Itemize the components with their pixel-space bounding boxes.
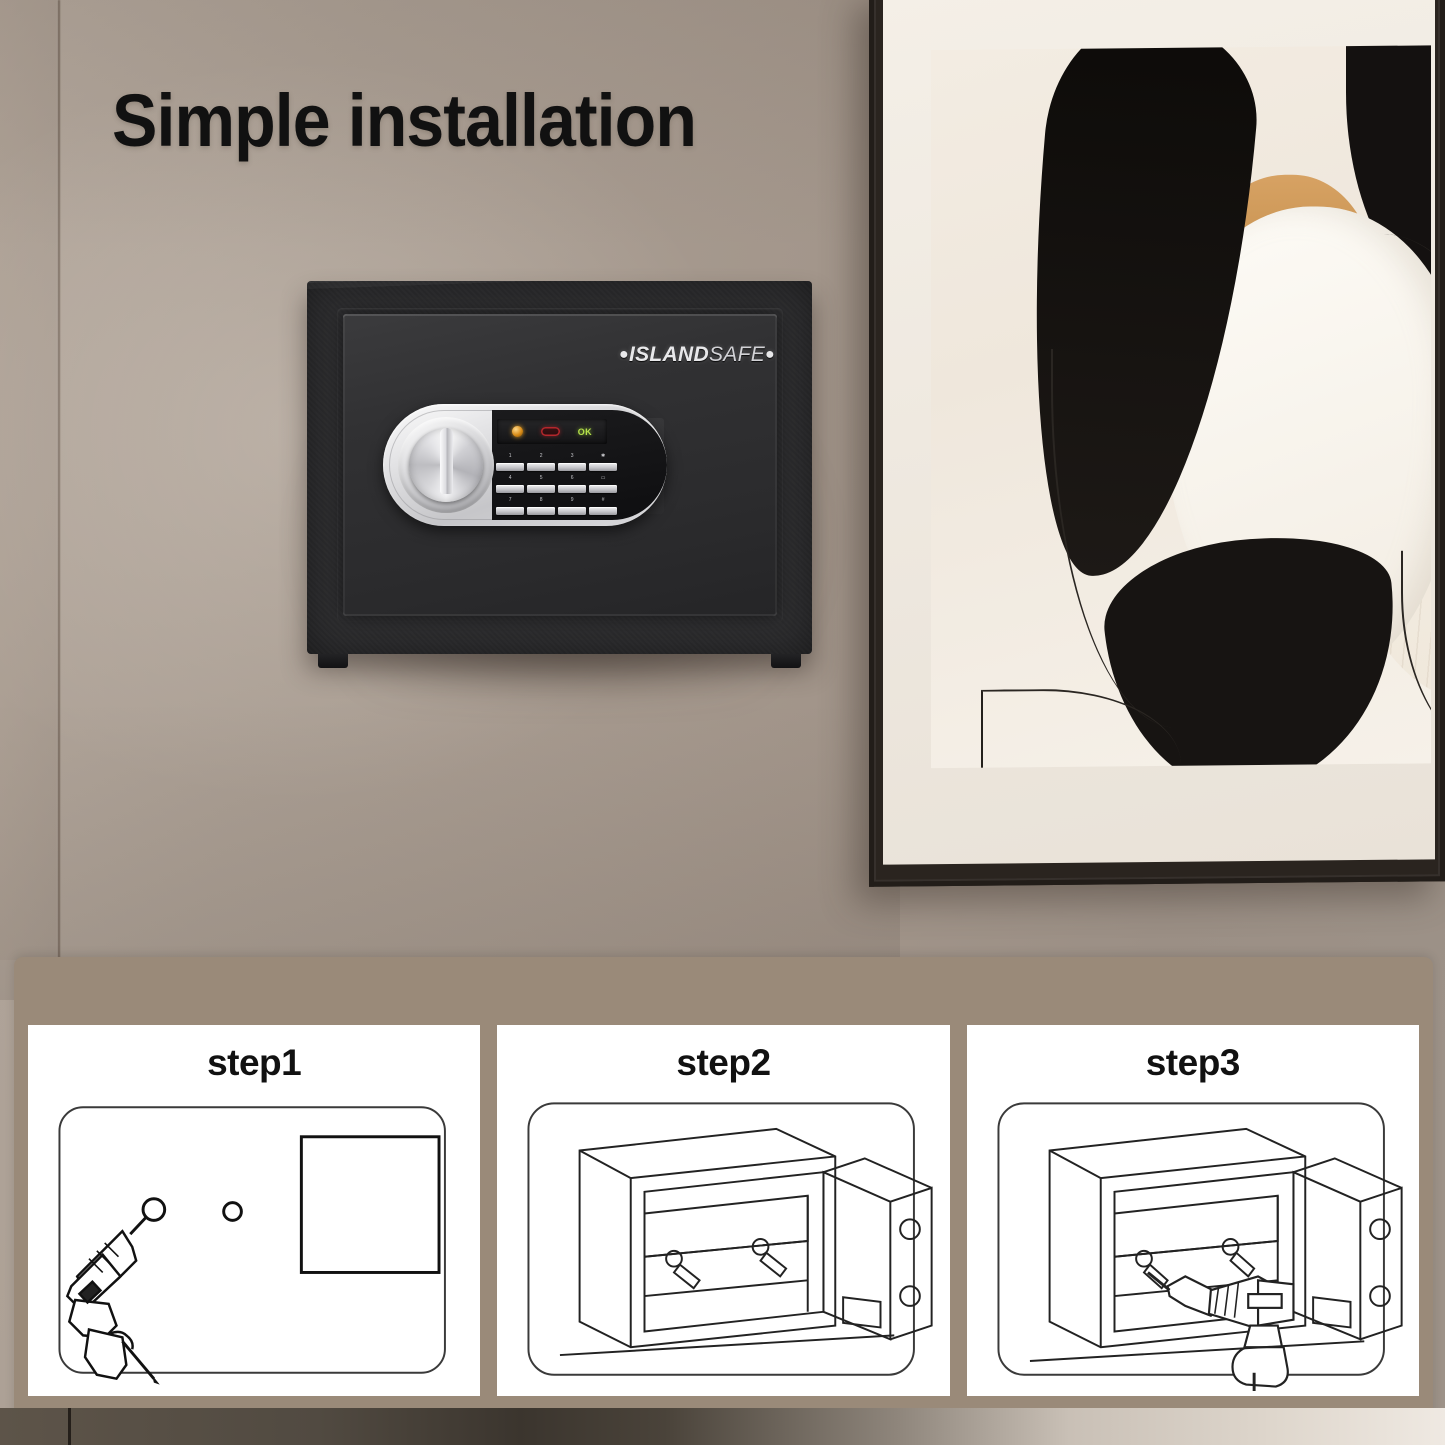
keypad-key-1-label: 1	[496, 452, 524, 460]
room-floor-seam	[68, 1408, 71, 1445]
keypad-key-7[interactable]: 7	[496, 496, 524, 516]
keypad-key-6[interactable]: 6	[558, 474, 586, 494]
keypad-key-hash-label: #	[589, 496, 617, 504]
safe-open-door-bolt-holes-icon	[497, 1091, 949, 1391]
ok-led-label: OK	[578, 427, 592, 437]
keypad-key-star-label: ✱	[589, 452, 617, 460]
framed-artwork	[869, 0, 1445, 887]
keypad-key-9-bar[interactable]	[558, 507, 586, 515]
keypad-key-hash[interactable]: #	[589, 496, 617, 516]
brand-primary: ISLAND	[629, 343, 709, 366]
logo-dot-left: ●	[619, 346, 629, 363]
logo-dot-right: ●	[765, 346, 775, 363]
keypad-key-8-label: 8	[527, 496, 555, 504]
keypad-key-8-bar[interactable]	[527, 507, 555, 515]
safe-display: OK	[497, 419, 607, 444]
keypad-key-8[interactable]: 8	[527, 496, 555, 516]
safe-knob-handle[interactable]	[440, 428, 453, 494]
brand-logo-text: ●ISLANDSAFE●	[619, 343, 775, 367]
keypad-key-2-bar[interactable]	[527, 463, 555, 471]
keypad-key-9-label: 9	[558, 496, 586, 504]
keypad-key-clear-label: ▭	[589, 474, 617, 482]
keypad-key-3-bar[interactable]	[558, 463, 586, 471]
keypad-key-clear[interactable]: ▭	[589, 474, 617, 494]
keypad-key-star-bar[interactable]	[589, 463, 617, 471]
step-card-2: step2	[497, 1025, 949, 1396]
keypad-key-1[interactable]: 1	[496, 452, 524, 472]
keypad-key-star[interactable]: ✱	[589, 452, 617, 472]
keypad-key-4-bar[interactable]	[496, 485, 524, 493]
keypad-key-2[interactable]: 2	[527, 452, 555, 472]
room-scene: Simple installation ●ISLANDSAFE● OK 1 2 …	[0, 0, 1445, 1445]
keypad-key-4[interactable]: 4	[496, 474, 524, 494]
keypad-key-2-label: 2	[527, 452, 555, 460]
wall-panel-left	[0, 0, 57, 960]
step-1-title: step1	[28, 1042, 480, 1084]
safe-foot-right	[771, 654, 801, 668]
brand-secondary: SAFE	[709, 343, 765, 366]
keypad-key-9[interactable]: 9	[558, 496, 586, 516]
keypad-key-3[interactable]: 3	[558, 452, 586, 472]
wall-seam-line	[57, 0, 61, 960]
artwork-canvas	[931, 45, 1431, 768]
amber-led-icon	[512, 426, 523, 437]
keypad-key-5-label: 5	[527, 474, 555, 482]
step-card-1: step1	[28, 1025, 480, 1396]
keypad-key-5[interactable]: 5	[527, 474, 555, 494]
keypad-key-clear-bar[interactable]	[589, 485, 617, 493]
brand-logo: ●ISLANDSAFE●	[607, 333, 787, 377]
safe-open-door-drilling-icon	[967, 1091, 1419, 1391]
safe-keypad[interactable]: 1 2 3 ✱ 4 5 6 ▭ 7 8 9 #	[496, 452, 617, 516]
drill-wall-holes-icon	[28, 1091, 480, 1391]
art-line-1	[1051, 348, 1191, 729]
keypad-key-hash-bar[interactable]	[589, 507, 617, 515]
room-floor-strip	[0, 1408, 1445, 1445]
installation-steps-panel: step1	[14, 957, 1433, 1445]
keypad-key-3-label: 3	[558, 452, 586, 460]
step-card-3: step3	[967, 1025, 1419, 1396]
keypad-key-6-label: 6	[558, 474, 586, 482]
keypad-key-5-bar[interactable]	[527, 485, 555, 493]
safe-foot-left	[318, 654, 348, 668]
page-title: Simple installation	[112, 78, 696, 163]
keypad-key-1-bar[interactable]	[496, 463, 524, 471]
red-led-icon	[541, 427, 560, 436]
step-2-title: step2	[497, 1042, 949, 1084]
keypad-key-6-bar[interactable]	[558, 485, 586, 493]
steps-row: step1	[28, 1025, 1419, 1396]
keypad-key-4-label: 4	[496, 474, 524, 482]
artwork-mat	[883, 0, 1435, 865]
keypad-key-7-bar[interactable]	[496, 507, 524, 515]
keypad-key-7-label: 7	[496, 496, 524, 504]
step-3-title: step3	[967, 1042, 1419, 1084]
art-line-2	[1323, 233, 1431, 565]
